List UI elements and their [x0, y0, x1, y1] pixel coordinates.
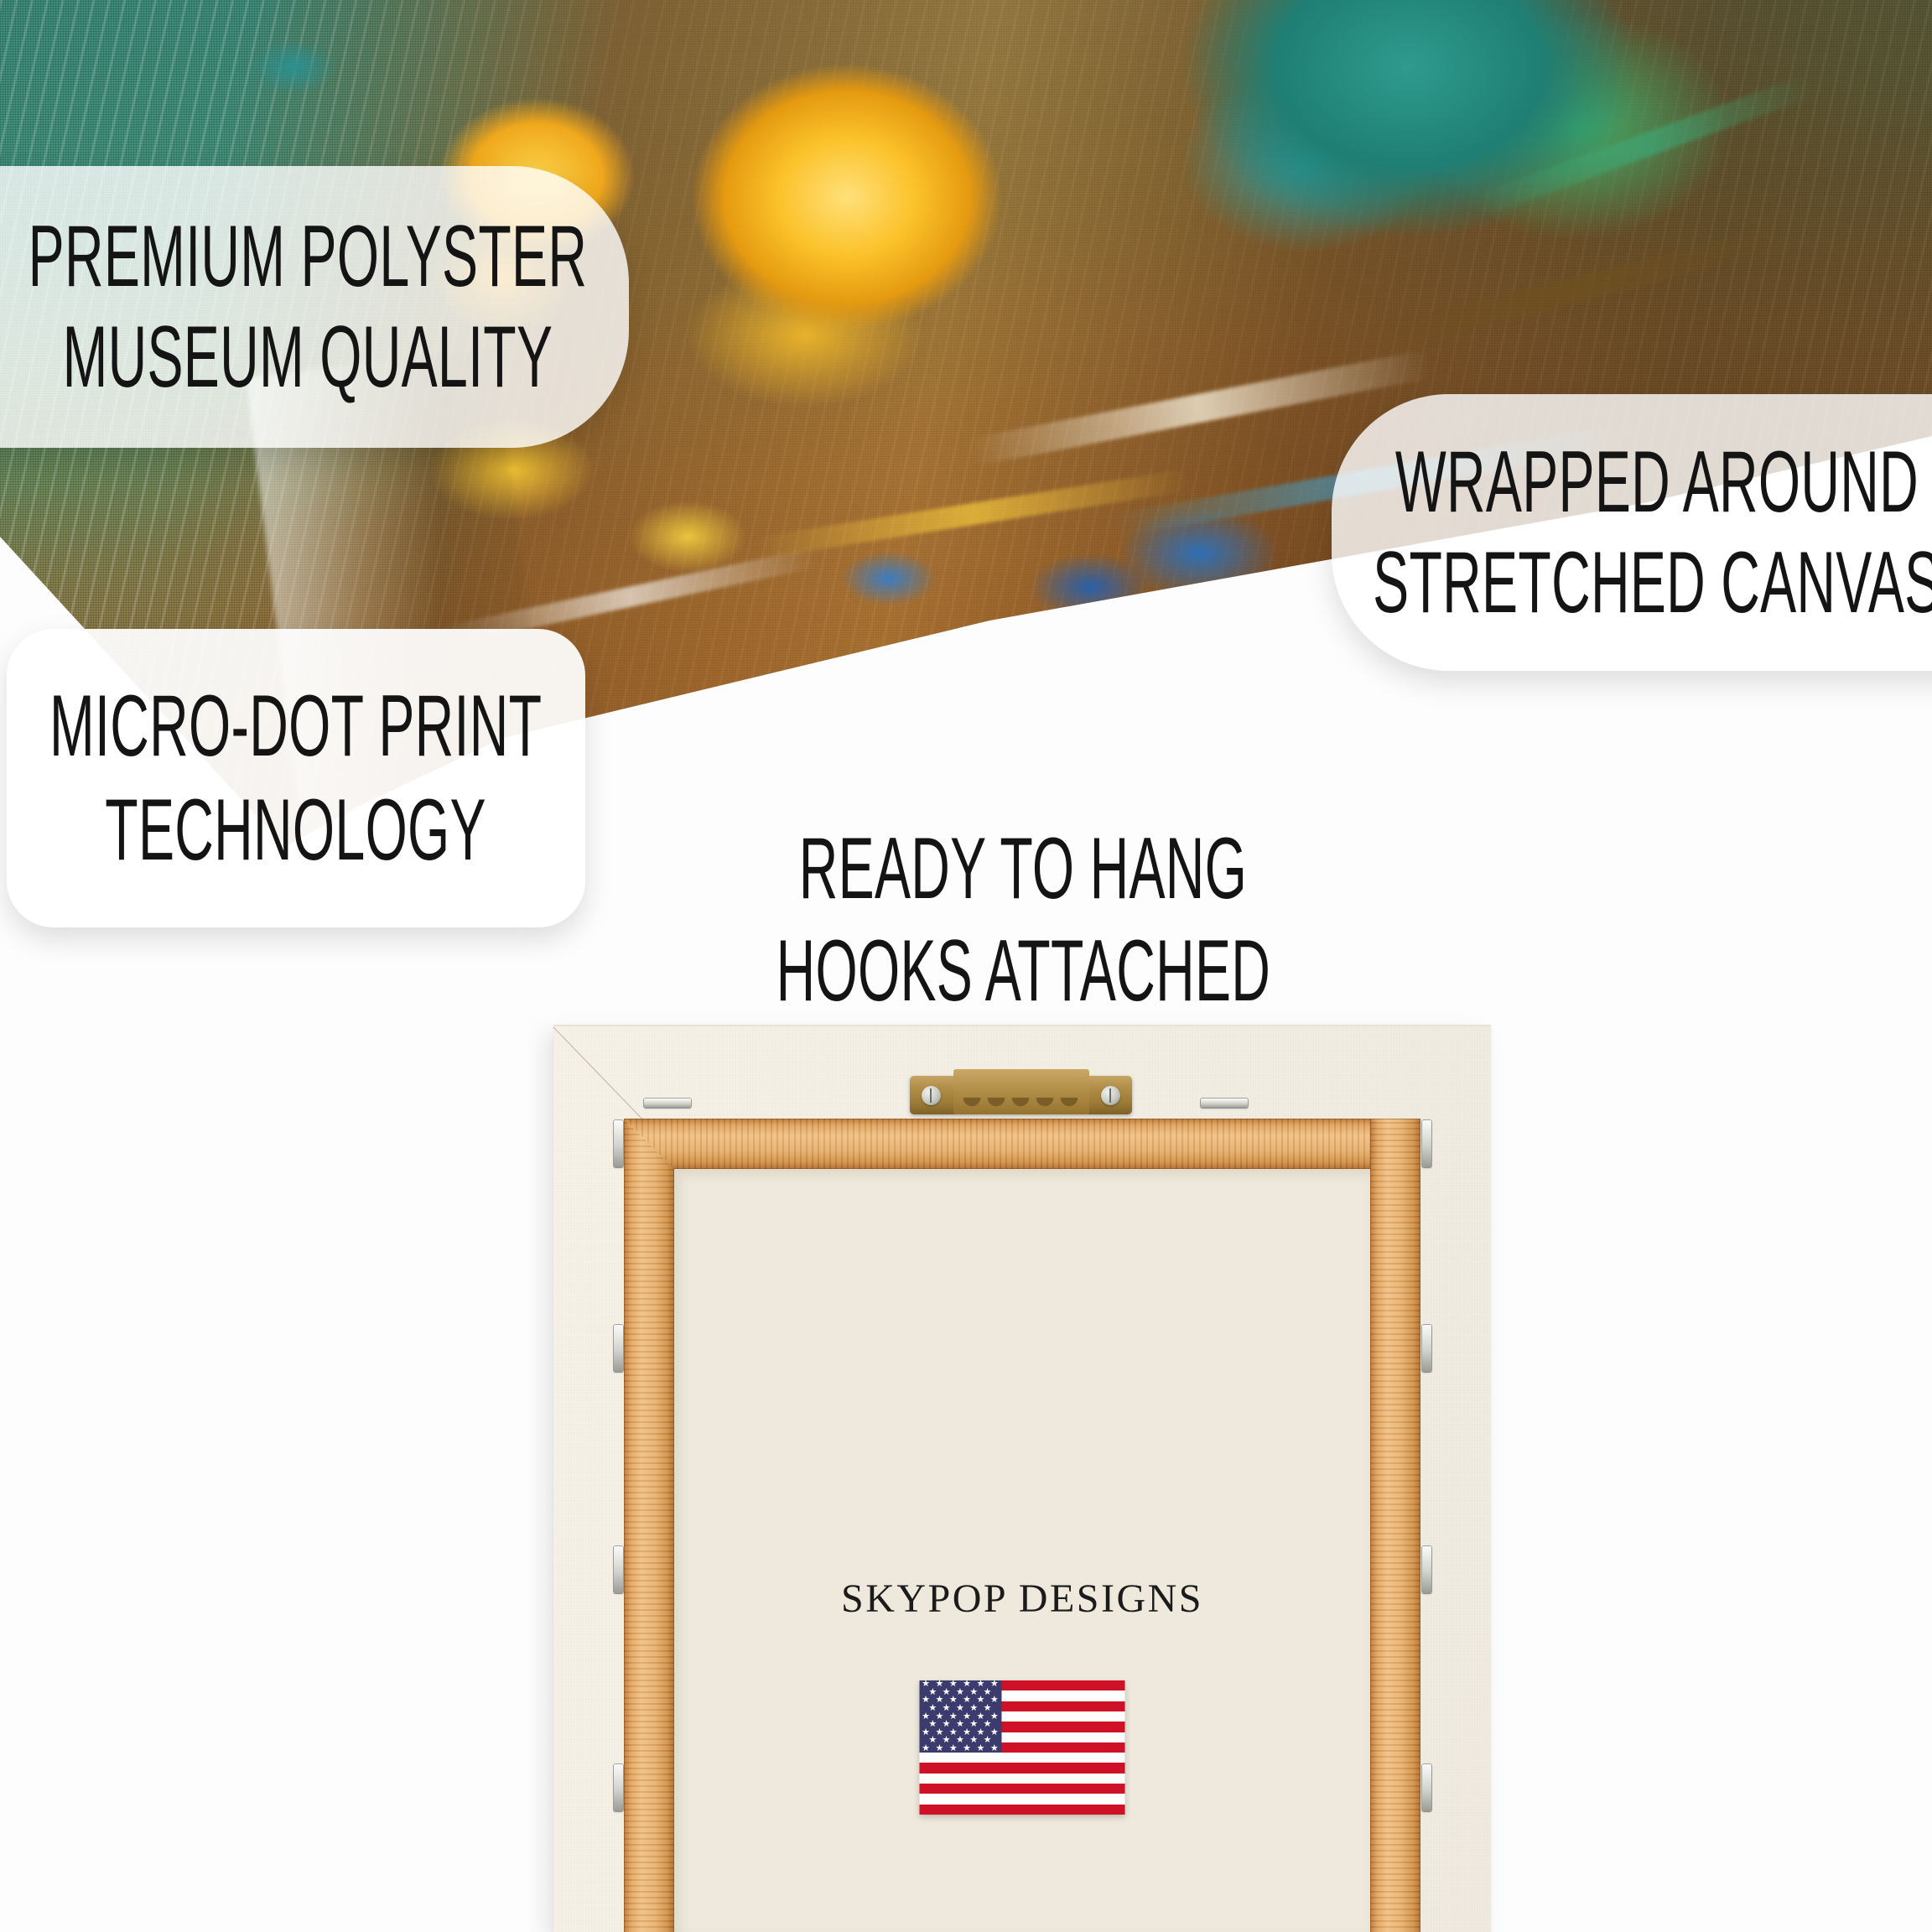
feature-wrapped-line1: WRAPPED AROUND: [1395, 439, 1932, 526]
feature-microdot-line1: MICRO-DOT PRINT: [49, 683, 542, 770]
flag-stripe: [920, 1753, 1125, 1763]
flag-star: ★: [990, 1744, 999, 1753]
stretcher-bar-right: [1370, 1119, 1420, 1932]
flag-canton: ★★★★★★★★★★★★★★★★★★★★★★★★★★★★★★★★★★★★★★★★…: [920, 1680, 1002, 1753]
feature-text-ready-to-hang: READY TO HANG HOOKS ATTACHED: [755, 818, 1291, 1022]
staple: [614, 1120, 623, 1167]
staple: [1201, 1098, 1248, 1108]
feature-panel-wrapped-around: WRAPPED AROUND STRETCHED CANVAS: [1332, 394, 1932, 671]
feature-wrapped-line2: STRETCHED CANVAS: [1373, 539, 1932, 626]
staple: [644, 1098, 691, 1108]
canvas-inner-surface: [674, 1169, 1370, 1932]
hanger-screw-right: [1101, 1086, 1120, 1105]
flag-star: ★: [922, 1744, 930, 1753]
united-states-flag-icon: ★★★★★★★★★★★★★★★★★★★★★★★★★★★★★★★★★★★★★★★★…: [920, 1680, 1125, 1815]
stretcher-bar-left: [624, 1119, 674, 1932]
flag-star: ★: [963, 1744, 971, 1753]
flag-stripe: [920, 1805, 1125, 1815]
hanger-teeth: [960, 1098, 1083, 1114]
feature-ready-line1: READY TO HANG: [799, 825, 1247, 912]
stretcher-bar-top: [624, 1119, 1420, 1169]
flag-stripe: [920, 1794, 1125, 1804]
staple: [1422, 1325, 1431, 1372]
flag-stripe: [920, 1784, 1125, 1794]
feature-microdot-line2: TECHNOLOGY: [106, 787, 487, 874]
feature-ready-line2: HOOKS ATTACHED: [776, 927, 1270, 1015]
flag-star: ★: [936, 1744, 944, 1753]
flag-stripe: [920, 1774, 1125, 1784]
staple: [1422, 1764, 1431, 1811]
feature-panel-micro-dot-print: MICRO-DOT PRINT TECHNOLOGY: [7, 629, 585, 927]
staple: [614, 1325, 623, 1372]
feature-premium-line1: PREMIUM POLYSTER: [8, 213, 587, 300]
canvas-back-panel: SKYPOP DESIGNS ★★★★★★★★★★★★★★★★★★★★★★★★★…: [553, 1025, 1491, 1932]
flag-star: ★: [949, 1744, 958, 1753]
hanger-screw-left: [922, 1086, 941, 1105]
flag-star: ★: [977, 1744, 985, 1753]
feature-premium-line2: MUSEUM QUALITY: [42, 314, 553, 401]
staple: [1422, 1120, 1431, 1167]
product-infographic: PREMIUM POLYSTER MUSEUM QUALITY WRAPPED …: [0, 0, 1932, 1932]
staple: [614, 1764, 623, 1811]
feature-panel-premium-polyster: PREMIUM POLYSTER MUSEUM QUALITY: [0, 166, 629, 448]
brand-name: SKYPOP DESIGNS: [553, 1576, 1491, 1622]
flag-stripe: [920, 1763, 1125, 1773]
